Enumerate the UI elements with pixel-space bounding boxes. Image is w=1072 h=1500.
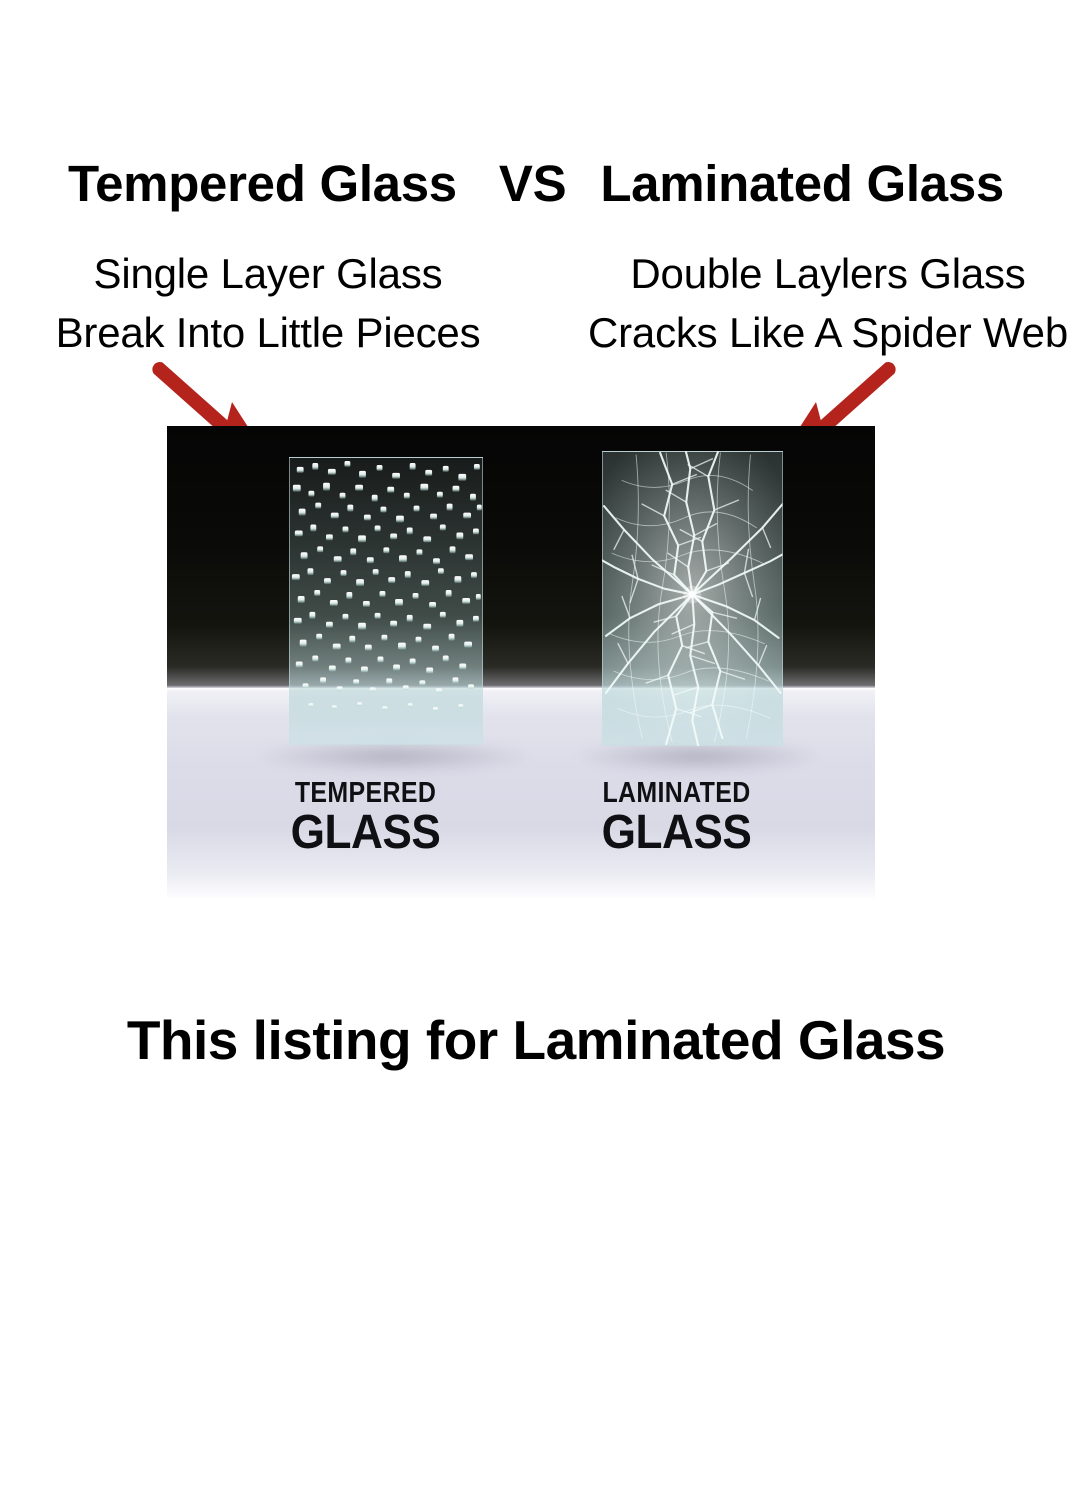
listing-note: This listing for Laminated Glass [0, 1008, 1072, 1072]
tempered-glass-pane [289, 457, 484, 745]
headline-left-term: Tempered Glass [68, 158, 457, 209]
caption-line-2: Cracks Like A Spider Web [588, 303, 1068, 362]
caption-line-1: Double Laylers Glass [630, 244, 1025, 303]
tempered-fragments-pattern [289, 457, 484, 745]
caption-column-tempered: Single Layer Glass Break Into Little Pie… [0, 244, 550, 366]
photo-label-glass: GLASS [241, 808, 489, 857]
caption-line-1: Single Layer Glass [94, 244, 443, 303]
headline: Tempered Glass VS Laminated Glass [0, 152, 1072, 214]
photo-label-glass: GLASS [553, 808, 801, 857]
caption-line-2: Break Into Little Pieces [56, 303, 481, 362]
caption-column-laminated: Double Laylers Glass Cracks Like A Spide… [550, 244, 1072, 366]
photo-label-kind: TEMPERED [250, 778, 481, 808]
photo-label-tempered: TEMPERED GLASS [231, 778, 500, 857]
infographic-page: Tempered Glass VS Laminated Glass Single… [0, 0, 1072, 1500]
headline-right-term: Laminated Glass [600, 158, 1004, 209]
tempered-pane-shadow [259, 740, 528, 773]
laminated-cracks-pattern [602, 451, 783, 746]
laminated-glass-pane [602, 451, 783, 746]
photo-label-laminated: LAMINATED GLASS [542, 778, 811, 857]
listing-note-text: This listing for Laminated Glass [127, 1013, 945, 1068]
comparison-photo: TEMPERED GLASS LAMINATED GLASS [167, 426, 875, 898]
caption-row: Single Layer Glass Break Into Little Pie… [0, 244, 1072, 366]
headline-separator: VS [499, 158, 566, 209]
photo-label-kind: LAMINATED [561, 778, 792, 808]
